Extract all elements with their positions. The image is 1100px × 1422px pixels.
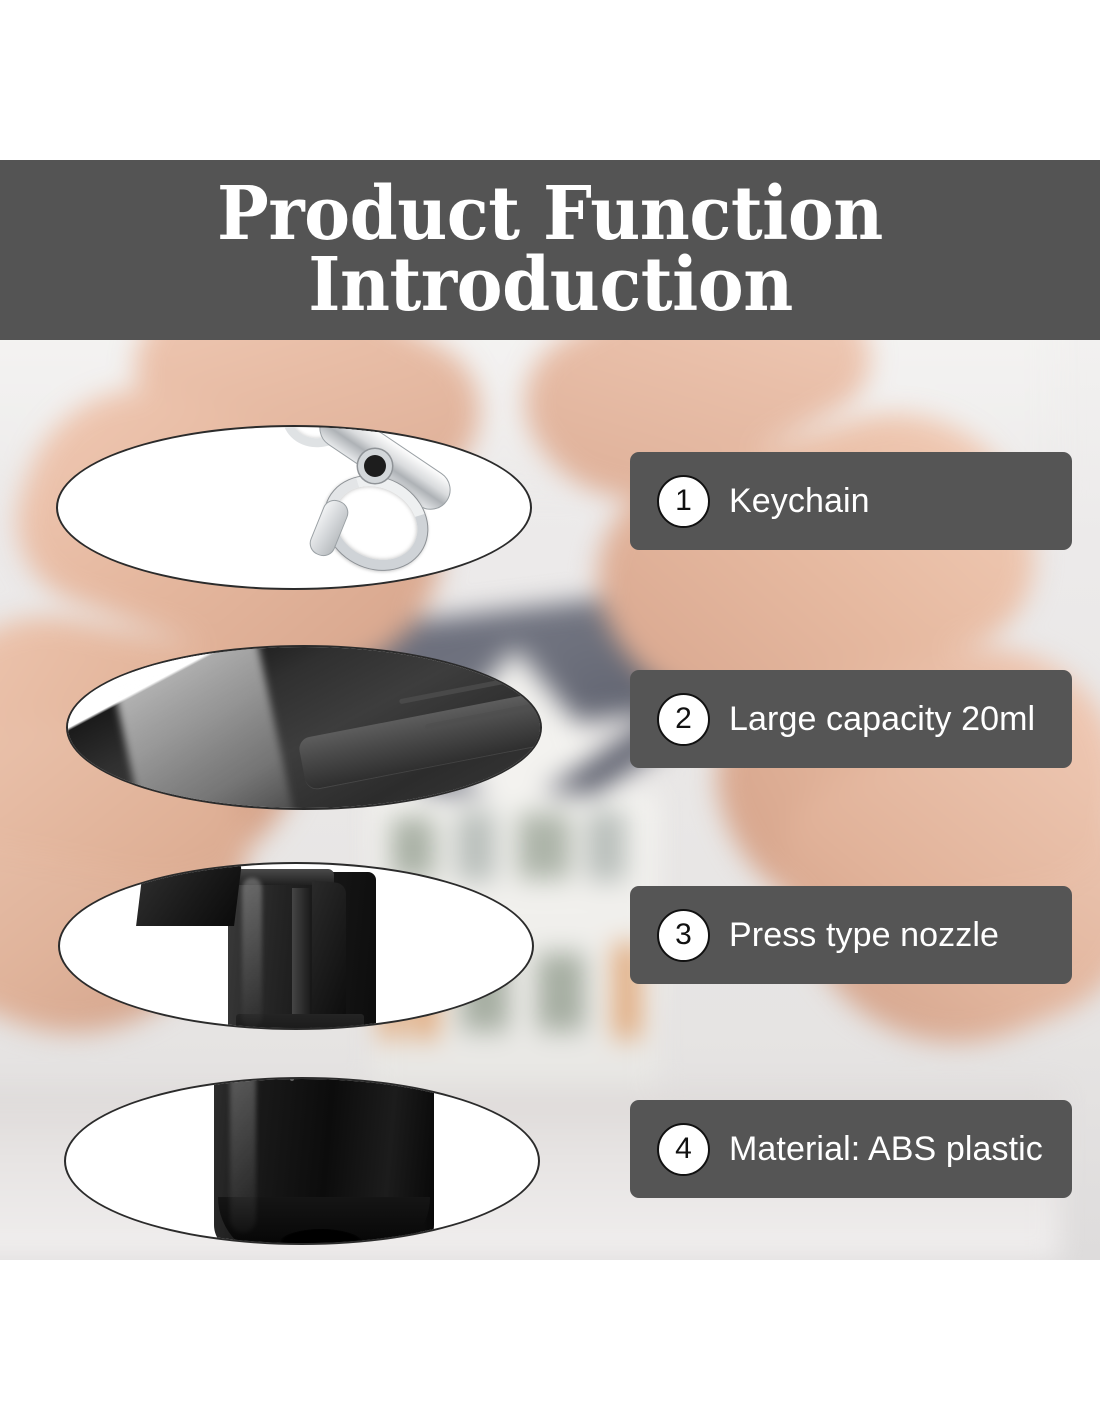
feature-label-2: Large capacity 20ml <box>729 700 1035 739</box>
feature-image-nozzle <box>58 862 534 1030</box>
feature-row-3[interactable]: 3 Press type nozzle <box>630 886 1072 984</box>
nozzle-shadow-side <box>312 881 346 1030</box>
feature-number-badge-4: 4 <box>657 1123 710 1176</box>
feature-row-2[interactable]: 2 Large capacity 20ml <box>630 670 1072 768</box>
feature-row-1[interactable]: 1 Keychain <box>630 452 1072 550</box>
nozzle-highlight <box>242 878 262 1028</box>
header-banner: Product Function Introduction <box>0 160 1100 340</box>
feature-number-badge-3: 3 <box>657 909 710 962</box>
house-window <box>586 811 626 881</box>
press-nozzle-illustration <box>60 864 532 1028</box>
feature-image-bottle-body <box>66 645 542 810</box>
bottle-body-illustration <box>68 647 540 808</box>
feature-label-4: Material: ABS plastic <box>729 1130 1043 1169</box>
page-title-line-2: Introduction <box>308 250 793 321</box>
house-window <box>548 813 566 879</box>
feature-label-1: Keychain <box>729 482 870 521</box>
clasp-rivet <box>364 455 386 477</box>
house-window <box>564 953 582 1031</box>
bottle-base-highlight <box>230 1077 256 1233</box>
feature-number-badge-1: 1 <box>657 475 710 528</box>
feature-number-badge-2: 2 <box>657 693 710 746</box>
house-window <box>540 953 558 1031</box>
feature-image-bottle-base <box>64 1077 540 1245</box>
feature-image-keychain <box>56 425 532 590</box>
nozzle-side-edge <box>292 888 310 1030</box>
infographic-page: Product Function Introduction <box>0 0 1100 1422</box>
page-title-line-1: Product Function <box>217 179 883 250</box>
bottle-base-illustration <box>66 1079 538 1243</box>
bottle-base-slit <box>290 1077 294 1081</box>
feature-row-4[interactable]: 4 Material: ABS plastic <box>630 1100 1072 1198</box>
feature-label-3: Press type nozzle <box>729 916 999 955</box>
lobster-clasp <box>258 425 508 590</box>
keychain-clasp-illustration <box>58 427 530 588</box>
nozzle-step <box>136 862 242 926</box>
